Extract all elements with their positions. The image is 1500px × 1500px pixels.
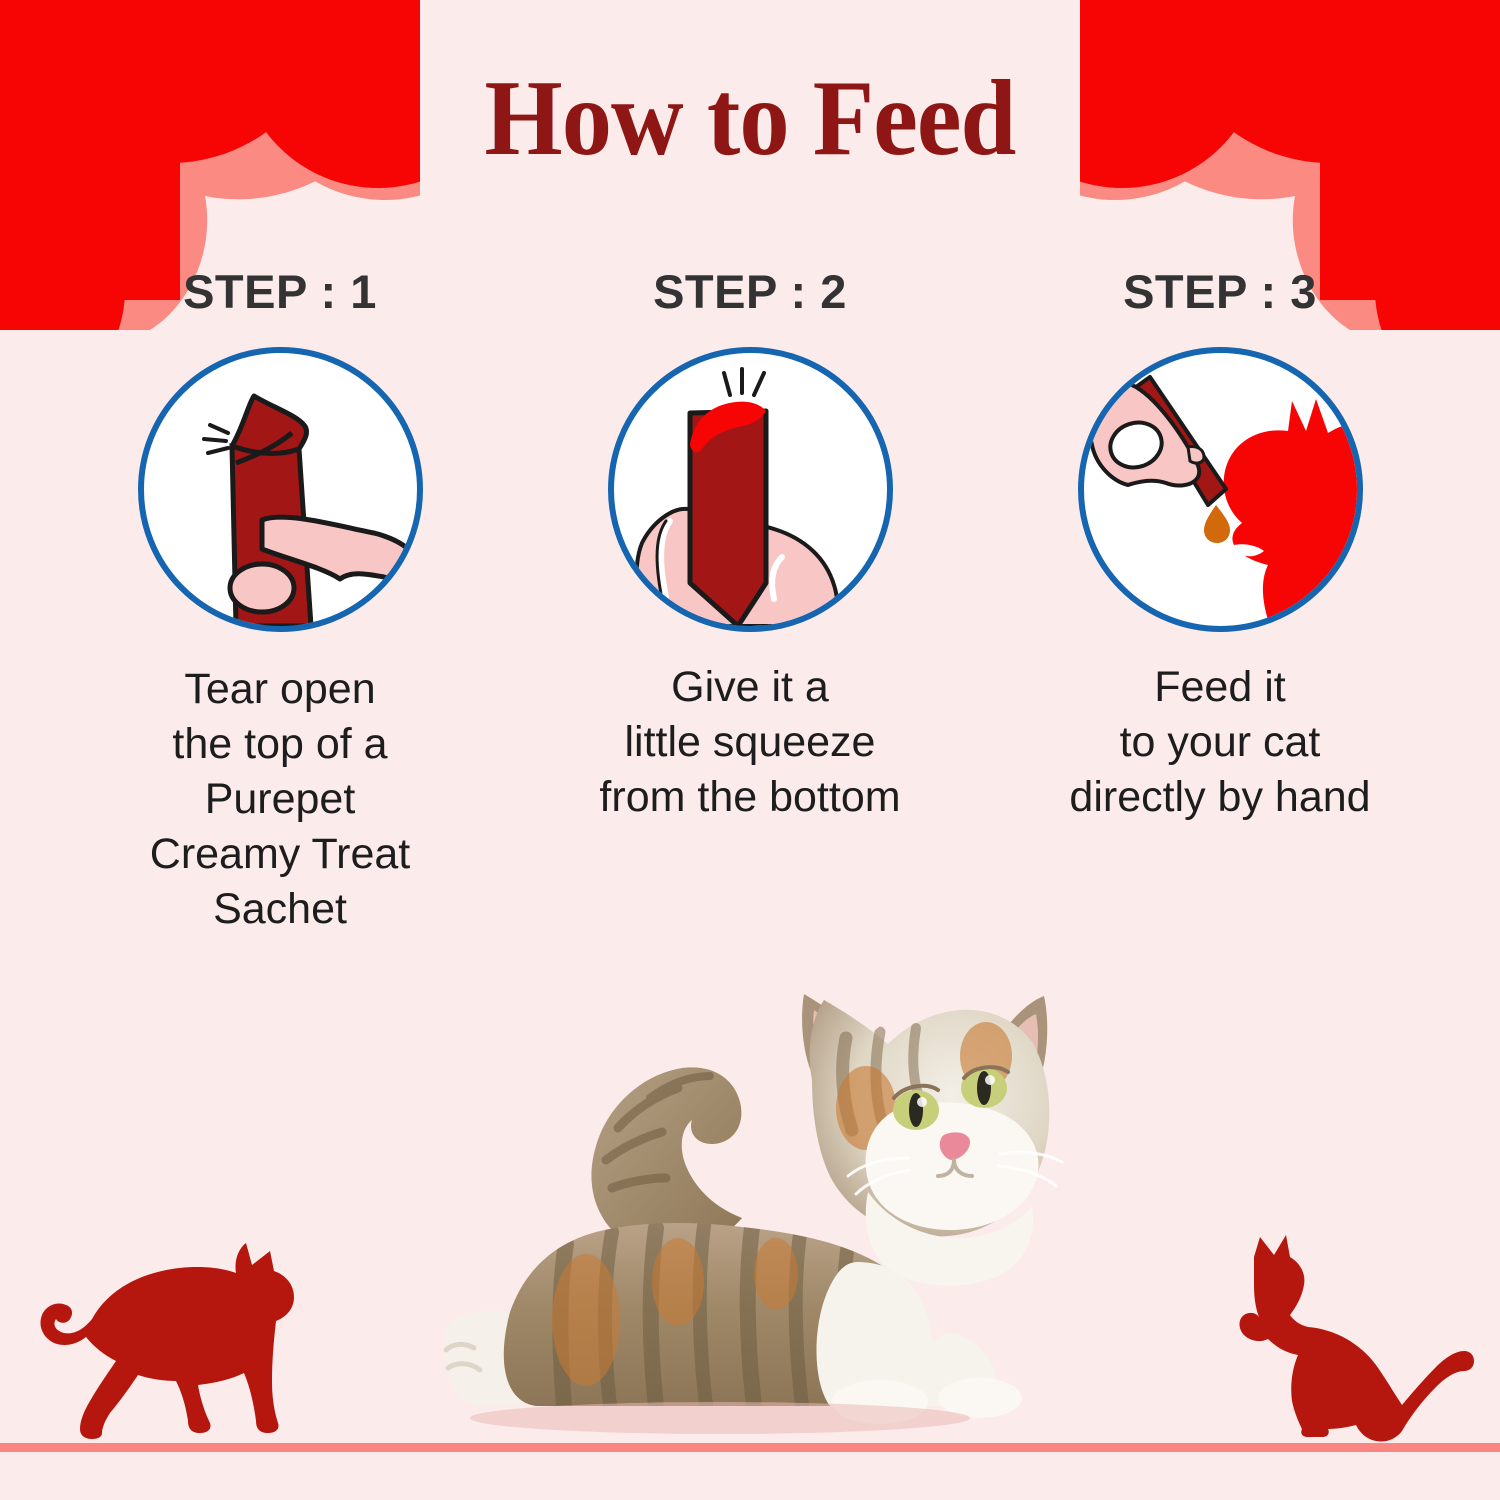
step-3: STEP : 3: [1000, 268, 1440, 825]
step-2-label: STEP : 2: [653, 268, 847, 315]
cat-silhouette-sitting-icon: [1198, 1235, 1478, 1450]
step-1: STEP : 1: [60, 268, 500, 937]
page-title: How to Feed: [53, 62, 1448, 175]
cat-silhouette-walking-icon: [18, 1235, 318, 1450]
hand-squeezing-sachet-icon: [614, 353, 887, 626]
step-2-caption: Give it a little squeeze from the bottom: [599, 660, 900, 825]
kitten-photo: [360, 932, 1100, 1452]
step-1-caption: Tear open the top of a Purepet Creamy Tr…: [150, 662, 410, 937]
step-3-caption: Feed it to your cat directly by hand: [1069, 660, 1370, 825]
steps-row: STEP : 1: [60, 268, 1440, 937]
hand-tearing-sachet-icon: [144, 353, 417, 626]
step-2: STEP : 2: [530, 268, 970, 825]
hand-feeding-cat-icon: [1084, 353, 1357, 626]
step-3-illustration: [1078, 347, 1363, 632]
ground-line: [0, 1443, 1500, 1452]
step-2-illustration: [608, 347, 893, 632]
step-1-illustration: [138, 347, 423, 632]
poster-canvas: How to Feed STEP : 1: [0, 0, 1500, 1500]
step-3-label: STEP : 3: [1123, 268, 1317, 315]
step-1-label: STEP : 1: [183, 268, 377, 315]
